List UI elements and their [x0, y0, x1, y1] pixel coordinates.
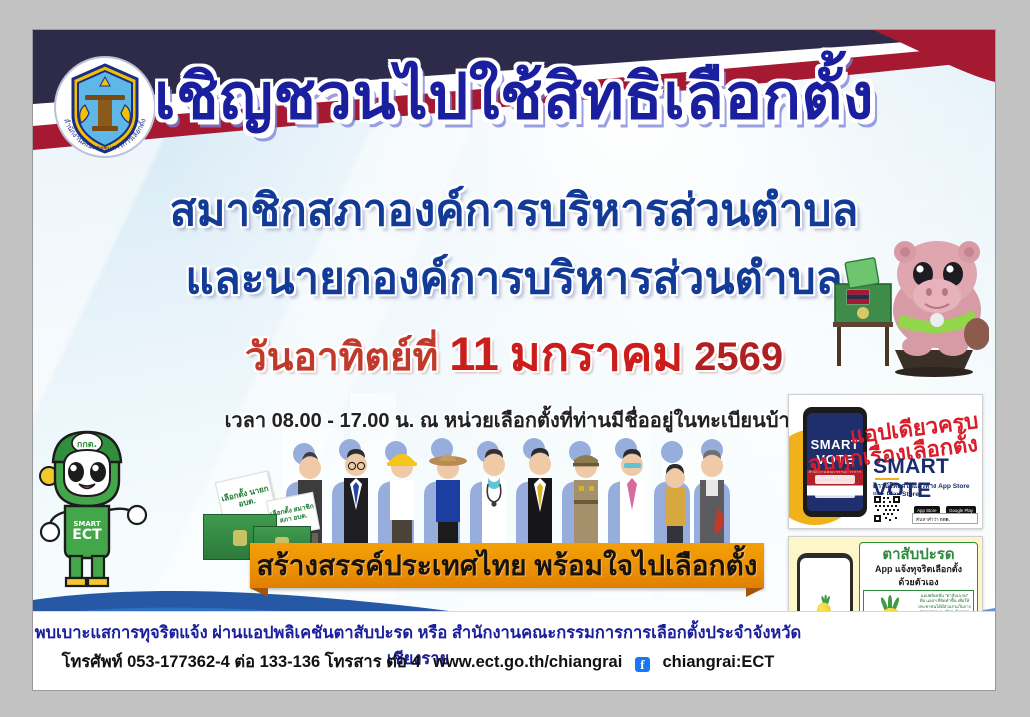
phone-text: โทรศัพท์ 053-177362-4 ต่อ 133-136 โทรสาร…	[62, 653, 421, 671]
hippo-ballot-box	[833, 258, 893, 366]
date-month: มกราคม	[510, 327, 684, 380]
citizens-illustration	[276, 438, 731, 553]
citizen-lawyer	[528, 448, 552, 553]
search-hint: ค้นหาคำว่า	[916, 517, 939, 522]
date-year: 2569	[694, 335, 783, 379]
hippo-body	[893, 241, 989, 356]
citizen-scientist	[620, 449, 644, 553]
ta-sapparod-subtitle-1: App แจ้งทุจริตเลือกตั้ง	[860, 564, 977, 575]
hippo-mascot	[821, 230, 989, 380]
facebook-handle[interactable]: chiangrai:ECT	[662, 653, 774, 671]
smart-vote-search-row[interactable]: ค้นหาคำว่า กกต.	[912, 513, 978, 524]
page-title: เชิญชวนไปใช้สิทธิเลือกตั้ง	[33, 66, 995, 129]
mascot-cap-label: กกต.	[77, 440, 97, 450]
citizen-child	[665, 464, 685, 553]
date-day: 11	[449, 327, 499, 380]
contact-line: โทรศัพท์ 053-177362-4 ต่อ 133-136 โทรสาร…	[33, 649, 803, 675]
election-poster: สำนักงานคณะกรรมการการเลือกตั้ง เชิญชวนไป…	[33, 30, 995, 690]
citizen-businessman	[344, 449, 368, 553]
smart-vote-qr-code[interactable]	[873, 495, 901, 523]
slogan-banner: สร้างสรรค์ประเทศไทย พร้อมใจไปเลือกตั้ง	[250, 543, 764, 588]
citizen-officer	[573, 455, 599, 553]
search-value: กกต.	[940, 517, 950, 522]
divider	[875, 478, 899, 480]
website-link[interactable]: www.ect.go.th/chiangrai	[433, 653, 622, 671]
ta-sapparod-title: ตาสับปะรด	[860, 547, 977, 562]
citizen-doctor	[482, 449, 506, 553]
subtitle-council-members: สมาชิกสภาองค์การบริหารส่วนตำบล	[33, 189, 995, 233]
smart-vote-card[interactable]: SMART VOTE สำนักงานคณะกรรมการการเลือกตั้…	[788, 394, 983, 529]
facebook-icon: f	[635, 657, 650, 672]
app-screen-button	[815, 489, 855, 498]
ta-sapparod-subtitle-2: ด้วยตัวเอง	[860, 577, 977, 588]
poster-footer: พบเบาะแสการทุจริตแจ้ง ผ่านแอปพลิเคชันตาส…	[33, 611, 995, 690]
citizen-elder	[700, 450, 724, 553]
ballot-box-emblem	[233, 530, 247, 546]
date-prefix: วันอาทิตย์ที่	[245, 336, 438, 379]
mascot-shirt-label: ECT	[72, 527, 102, 543]
